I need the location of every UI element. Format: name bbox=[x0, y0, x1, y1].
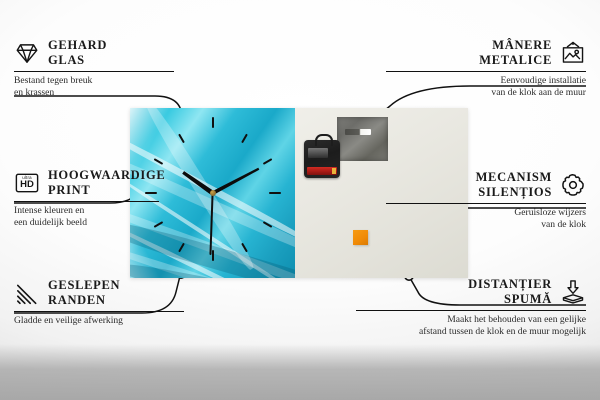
clock-tick bbox=[241, 134, 248, 144]
feature-desc-line-1: Eenvoudige installatie bbox=[386, 75, 586, 87]
infographic-canvas: GEHARD GLAS Bestand tegen breuk en krass… bbox=[0, 0, 600, 400]
feature-desc-line-2: afstand tussen de klok en de muur mogeli… bbox=[356, 326, 586, 338]
feature-title-line-1: MÂNERE bbox=[479, 38, 552, 53]
gear-icon bbox=[560, 172, 586, 198]
feature-desc-line-1: Geruisloze wijzers bbox=[386, 207, 586, 219]
picture-frame-hook-icon bbox=[560, 40, 586, 66]
diamond-icon bbox=[14, 40, 40, 66]
feature-geslepen-randen: GESLEPEN RANDEN Gladde en veilige afwerk… bbox=[14, 278, 204, 327]
metal-hanger-plate bbox=[337, 117, 388, 161]
divider bbox=[14, 311, 184, 312]
clock-tick bbox=[262, 158, 272, 165]
battery bbox=[307, 167, 337, 175]
clock-minute-hand bbox=[212, 167, 260, 195]
feature-title-line-1: HOOGWAARDIGE bbox=[48, 168, 165, 183]
clock-mechanism bbox=[304, 140, 340, 178]
foam-spacer-arrow-icon bbox=[560, 279, 586, 305]
feature-desc-line-2: een duidelijk beeld bbox=[14, 217, 199, 229]
feature-title-line-1: GESLEPEN bbox=[48, 278, 120, 293]
feature-desc-line-1: Bestand tegen breuk bbox=[14, 75, 189, 87]
feature-title-line-2: SPUMĂ bbox=[468, 292, 552, 307]
ultra-hd-icon: ultra HD bbox=[14, 170, 40, 196]
divider bbox=[356, 310, 586, 311]
feature-manere-metalice: MÂNERE METALICE Eenvoudige installatie v… bbox=[386, 38, 586, 99]
foam-spacer bbox=[353, 230, 368, 245]
feature-desc-line-1: Maakt het behouden van een gelijke bbox=[356, 314, 586, 326]
beveled-edges-icon bbox=[14, 280, 40, 306]
feature-hoogwaardige-print: ultra HD HOOGWAARDIGE PRINT Intense kleu… bbox=[14, 168, 199, 229]
feature-title-line-2: PRINT bbox=[48, 183, 165, 198]
divider bbox=[14, 201, 159, 202]
hanger-slot bbox=[345, 129, 371, 135]
feature-desc-line-1: Gladde en veilige afwerking bbox=[14, 315, 204, 327]
ultra-hd-icon-bottom-text: HD bbox=[14, 179, 40, 190]
feature-desc-line-2: van de klok bbox=[386, 219, 586, 231]
feature-title-line-1: MECANISM bbox=[476, 170, 552, 185]
clock-tick bbox=[269, 192, 281, 194]
feature-title-line-1: DISTANȚIER bbox=[468, 277, 552, 292]
clock-center-pin bbox=[210, 190, 216, 196]
feature-title-line-2: SILENȚIOS bbox=[476, 185, 552, 200]
feature-gehard-glas: GEHARD GLAS Bestand tegen breuk en krass… bbox=[14, 38, 189, 99]
feature-distantier-spuma: DISTANȚIER SPUMĂ Maakt het behouden van … bbox=[356, 277, 586, 338]
feature-mecanism-silentios: MECANISM SILENȚIOS Geruisloze wijzers va… bbox=[386, 170, 586, 231]
feature-desc-line-2: en krassen bbox=[14, 87, 189, 99]
feature-desc-line-1: Intense kleuren en bbox=[14, 205, 199, 217]
clock-tick bbox=[212, 250, 214, 261]
mechanism-label bbox=[308, 148, 328, 158]
feature-title-line-2: METALICE bbox=[479, 53, 552, 68]
mechanism-hanger-loop bbox=[315, 134, 333, 146]
clock-tick bbox=[212, 117, 214, 128]
feature-title-line-2: RANDEN bbox=[48, 293, 120, 308]
divider bbox=[386, 203, 586, 204]
divider bbox=[386, 71, 586, 72]
feature-title: GEHARD GLAS bbox=[48, 38, 107, 67]
divider bbox=[14, 71, 174, 72]
feature-desc-line-2: van de klok aan de muur bbox=[386, 87, 586, 99]
